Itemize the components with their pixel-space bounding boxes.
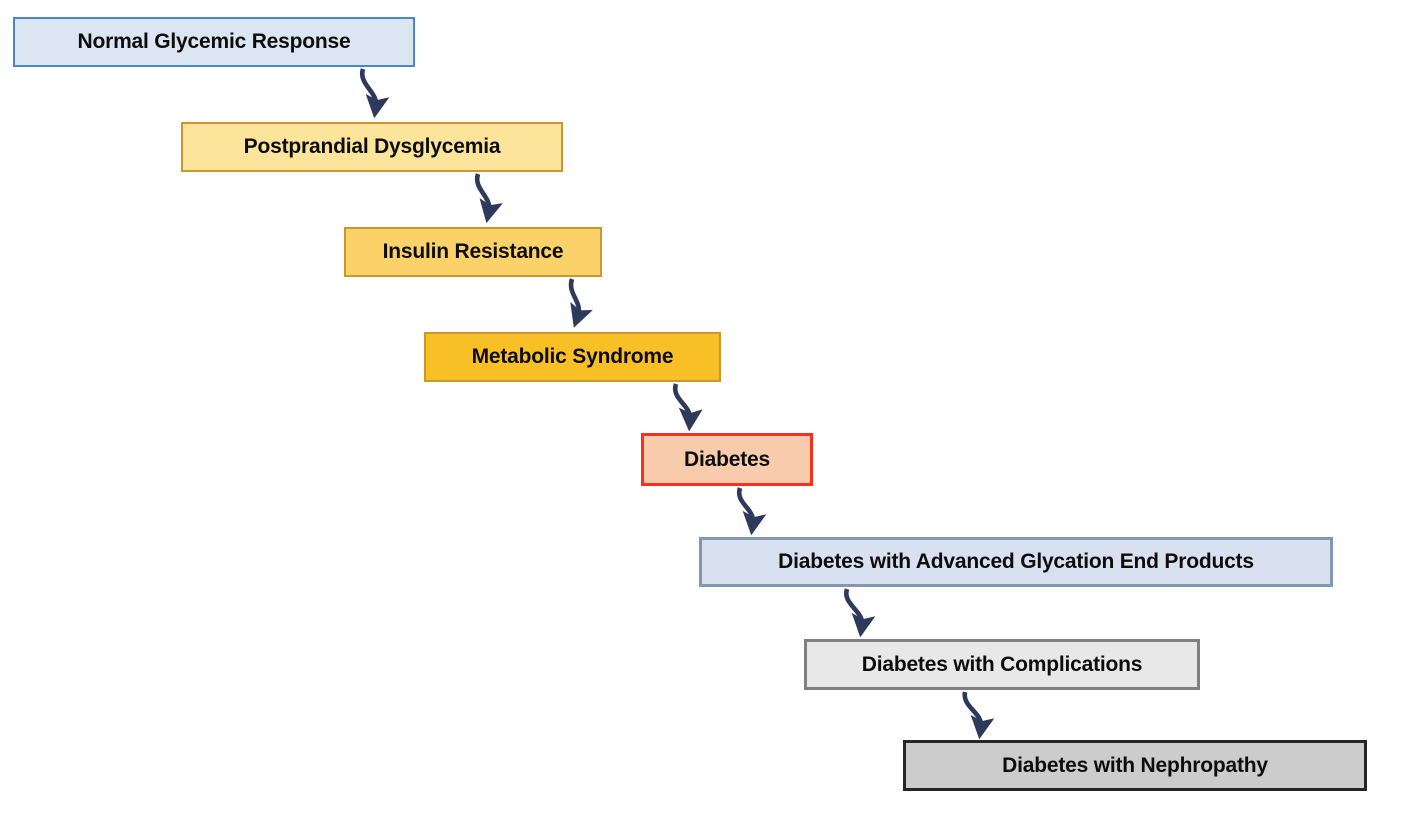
- flow-arrow: [571, 279, 579, 316]
- flow-arrow: [675, 384, 690, 419]
- node-label: Normal Glycemic Response: [74, 30, 355, 53]
- flow-arrow: [739, 488, 753, 523]
- node-insulin-resistance[interactable]: Insulin Resistance: [344, 227, 602, 277]
- node-normal-glycemic-response[interactable]: Normal Glycemic Response: [13, 17, 415, 67]
- node-diabetes[interactable]: Diabetes: [641, 433, 813, 486]
- flow-arrow: [965, 692, 981, 727]
- node-diabetes-with-advanced-glycation-end-products[interactable]: Diabetes with Advanced Glycation End Pro…: [699, 537, 1333, 587]
- node-label: Diabetes with Nephropathy: [998, 754, 1272, 777]
- node-label: Diabetes with Advanced Glycation End Pro…: [774, 550, 1258, 573]
- node-label: Insulin Resistance: [379, 240, 568, 263]
- node-postprandial-dysglycemia[interactable]: Postprandial Dysglycemia: [181, 122, 563, 172]
- flow-arrow: [477, 174, 489, 211]
- node-diabetes-with-complications[interactable]: Diabetes with Complications: [804, 639, 1200, 690]
- node-label: Diabetes with Complications: [858, 653, 1146, 676]
- node-diabetes-with-nephropathy[interactable]: Diabetes with Nephropathy: [903, 740, 1367, 791]
- node-label: Metabolic Syndrome: [468, 345, 678, 368]
- flow-arrow: [846, 589, 862, 625]
- node-label: Postprandial Dysglycemia: [240, 135, 505, 158]
- flowchart-canvas: Normal Glycemic ResponsePostprandial Dys…: [0, 0, 1406, 814]
- flow-arrow: [362, 69, 376, 106]
- node-label: Diabetes: [680, 448, 774, 471]
- node-metabolic-syndrome[interactable]: Metabolic Syndrome: [424, 332, 721, 382]
